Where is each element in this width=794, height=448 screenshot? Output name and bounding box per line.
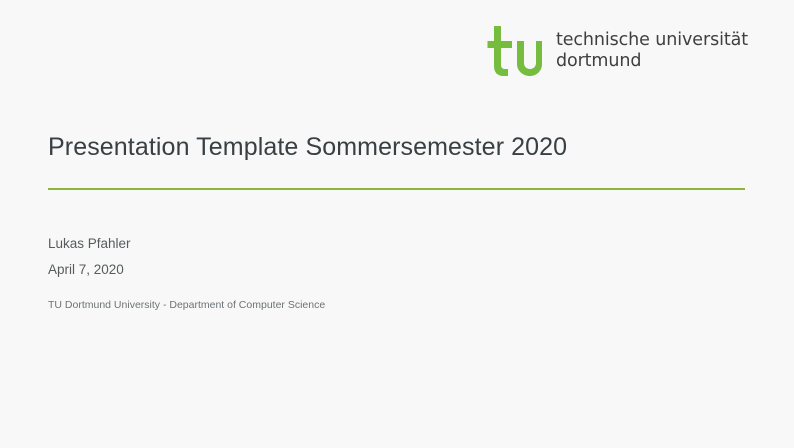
- affiliation-text: TU Dortmund University - Department of C…: [48, 298, 325, 312]
- title-divider-rule: [48, 188, 745, 190]
- title-slide: technische universität dortmund Presenta…: [0, 0, 794, 448]
- logo-wordmark-line-2: dortmund: [556, 51, 748, 72]
- slide-title: Presentation Template Sommersemester 202…: [48, 130, 567, 164]
- title-meta-block: Lukas Pfahler April 7, 2020 TU Dortmund …: [48, 231, 325, 312]
- tu-dortmund-logo: technische universität dortmund: [484, 26, 748, 76]
- tu-logo-mark-icon: [484, 26, 542, 76]
- author-name: Lukas Pfahler: [48, 231, 325, 257]
- presentation-date: April 7, 2020: [48, 257, 325, 283]
- tu-logo-wordmark: technische universität dortmund: [556, 30, 748, 71]
- logo-wordmark-line-1: technische universität: [556, 30, 748, 51]
